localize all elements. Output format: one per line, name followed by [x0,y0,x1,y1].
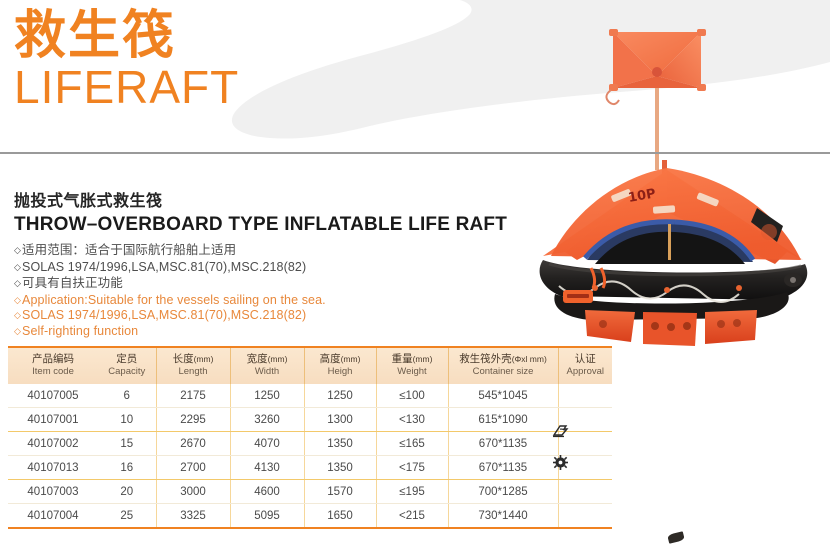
page-title-english: LIFERAFT [14,62,239,112]
col-header-english: Weight [379,366,446,378]
table-row: 4010701316270041301350<175670*1135 [8,456,612,480]
cell-length: 2175 [156,384,230,408]
table-row: 4010700425332550951650<215730*1440 [8,504,612,529]
cell-width: 4070 [230,432,304,456]
cell-length: 3325 [156,504,230,529]
header-divider-rule [0,152,830,154]
bullet-diamond-icon: ◇ [14,295,21,305]
spec-line-text: Self-righting function [22,324,138,338]
page-title-chinese: 救生筏 [14,8,239,64]
cell-item_code: 40107013 [8,456,98,480]
cell-item_code: 40107004 [8,504,98,529]
cell-capacity: 25 [98,504,156,529]
spec-line-text: Application:Suitable for the vessels sai… [22,293,326,307]
cell-length: 2670 [156,432,230,456]
specification-table: 产品编码Item code定员Capacity长度(mm)Length宽度(mm… [8,346,612,529]
bullet-diamond-icon: ◇ [14,246,21,256]
col-header-english: Approval [561,366,611,378]
spec-line-1: ◇适用范围：适合于国际航行船舶上适用 [14,242,534,260]
cell-weight: ≤165 [376,432,448,456]
cell-width: 5095 [230,504,304,529]
bullet-diamond-icon: ◇ [14,262,21,272]
cell-approval [558,504,612,529]
cell-item_code: 40107003 [8,480,98,504]
table-col-header-5: 高度(mm)Heigh [304,347,376,384]
table-row: 4010700320300046001570≤195700*1285 [8,480,612,504]
col-header-english: Capacity [100,366,154,378]
col-header-chinese: 定员 [100,353,154,366]
specification-table-container: 产品编码Item code定员Capacity长度(mm)Length宽度(mm… [8,346,612,529]
cell-width: 1250 [230,384,304,408]
table-header: 产品编码Item code定员Capacity长度(mm)Length宽度(mm… [8,347,612,384]
cell-width: 4600 [230,480,304,504]
cell-capacity: 10 [98,408,156,432]
table-body: 401070056217512501250≤100545*10454010700… [8,384,612,528]
col-header-unit: (mm) [194,354,214,364]
col-header-english: Width [233,366,302,378]
bullet-diamond-icon: ◇ [14,279,21,289]
cell-capacity: 6 [98,384,156,408]
col-header-english: Container size [451,366,556,378]
cell-capacity: 16 [98,456,156,480]
bottom-stray-mark [667,531,685,544]
spec-line-3: ◇可具有自扶正功能 [14,275,534,293]
table-row: 4010700110229532601300<130615*1090 [8,408,612,432]
col-header-unit: (mm) [268,354,288,364]
approval-icons-group [540,424,580,470]
product-name-english: THROW–OVERBOARD TYPE INFLATABLE LIFE RAF… [14,213,507,237]
table-row: 401070056217512501250≤100545*1045 [8,384,612,408]
table-col-header-8: 认证Approval [558,347,612,384]
cell-approval [558,384,612,408]
cell-container: 730*1440 [448,504,558,529]
cell-weight: ≤100 [376,384,448,408]
cell-item_code: 40107005 [8,384,98,408]
spec-line-text: SOLAS 1974/1996,LSA,MSC.81(70),MSC.218(8… [22,260,306,274]
cell-weight: <175 [376,456,448,480]
col-header-chinese: 高度(mm) [307,353,374,366]
specification-list: ◇适用范围：适合于国际航行船舶上适用◇SOLAS 1974/1996,LSA,M… [14,242,534,340]
cell-weight: ≤195 [376,480,448,504]
liferaft-canopy-photo [593,20,723,170]
cell-height: 1570 [304,480,376,504]
table-col-header-3: 长度(mm)Length [156,347,230,384]
table-col-header-1: 产品编码Item code [8,347,98,384]
cell-width: 4130 [230,456,304,480]
table-col-header-4: 宽度(mm)Width [230,347,304,384]
cell-length: 2700 [156,456,230,480]
bullet-diamond-icon: ◇ [14,310,21,320]
cell-height: 1650 [304,504,376,529]
product-name-block: 抛投式气胀式救生筏 THROW–OVERBOARD TYPE INFLATABL… [14,190,507,237]
cell-capacity: 15 [98,432,156,456]
table-header-row: 产品编码Item code定员Capacity长度(mm)Length宽度(mm… [8,347,612,384]
ccs-certification-icon [551,424,569,439]
col-header-unit: (Φxl mm) [512,354,547,364]
table-row: 4010700215267040701350≤165670*1135 [8,432,612,456]
col-header-chinese: 宽度(mm) [233,353,302,366]
col-header-chinese: 长度(mm) [159,353,228,366]
cell-length: 3000 [156,480,230,504]
table-col-header-7: 救生筏外壳(Φxl mm)Container size [448,347,558,384]
cell-width: 3260 [230,408,304,432]
spec-line-text: 适用范围：适合于国际航行船舶上适用 [22,242,236,257]
col-header-chinese: 认证 [561,353,611,366]
cell-capacity: 20 [98,480,156,504]
col-header-chinese: 重量(mm) [379,353,446,366]
spec-line-5: ◇SOLAS 1974/1996,LSA,MSC.81(70),MSC.218(… [14,308,534,324]
cell-height: 1300 [304,408,376,432]
spec-line-text: SOLAS 1974/1996,LSA,MSC.81(70),MSC.218(8… [22,308,306,322]
cell-length: 2295 [156,408,230,432]
cell-item_code: 40107002 [8,432,98,456]
gear-certification-icon [553,455,568,470]
cell-container: 700*1285 [448,480,558,504]
cell-item_code: 40107001 [8,408,98,432]
cell-height: 1350 [304,456,376,480]
table-col-header-2: 定员Capacity [98,347,156,384]
table-col-header-6: 重量(mm)Weight [376,347,448,384]
raft-illustration: 10P [525,160,830,350]
swoosh-path [232,0,830,139]
col-header-chinese: 救生筏外壳(Φxl mm) [451,353,556,366]
page-title-block: 救生筏 LIFERAFT [14,8,239,112]
liferaft-product-photo: 10P [525,160,830,350]
spec-line-4: ◇Application:Suitable for the vessels sa… [14,293,534,309]
spec-line-6: ◇Self-righting function [14,324,534,340]
spec-line-text: 可具有自扶正功能 [22,275,123,290]
col-header-chinese: 产品编码 [10,353,96,366]
col-header-english: Item code [10,366,96,378]
product-name-chinese: 抛投式气胀式救生筏 [14,190,507,211]
col-header-english: Heigh [307,366,374,378]
col-header-english: Length [159,366,228,378]
cell-height: 1350 [304,432,376,456]
col-header-unit: (mm) [341,354,361,364]
cell-weight: <215 [376,504,448,529]
cell-container: 545*1045 [448,384,558,408]
canopy-illustration [593,20,723,170]
col-header-unit: (mm) [413,354,433,364]
cell-height: 1250 [304,384,376,408]
bullet-diamond-icon: ◇ [14,326,21,336]
spec-line-2: ◇SOLAS 1974/1996,LSA,MSC.81(70),MSC.218(… [14,260,534,276]
cell-approval [558,480,612,504]
cell-weight: <130 [376,408,448,432]
